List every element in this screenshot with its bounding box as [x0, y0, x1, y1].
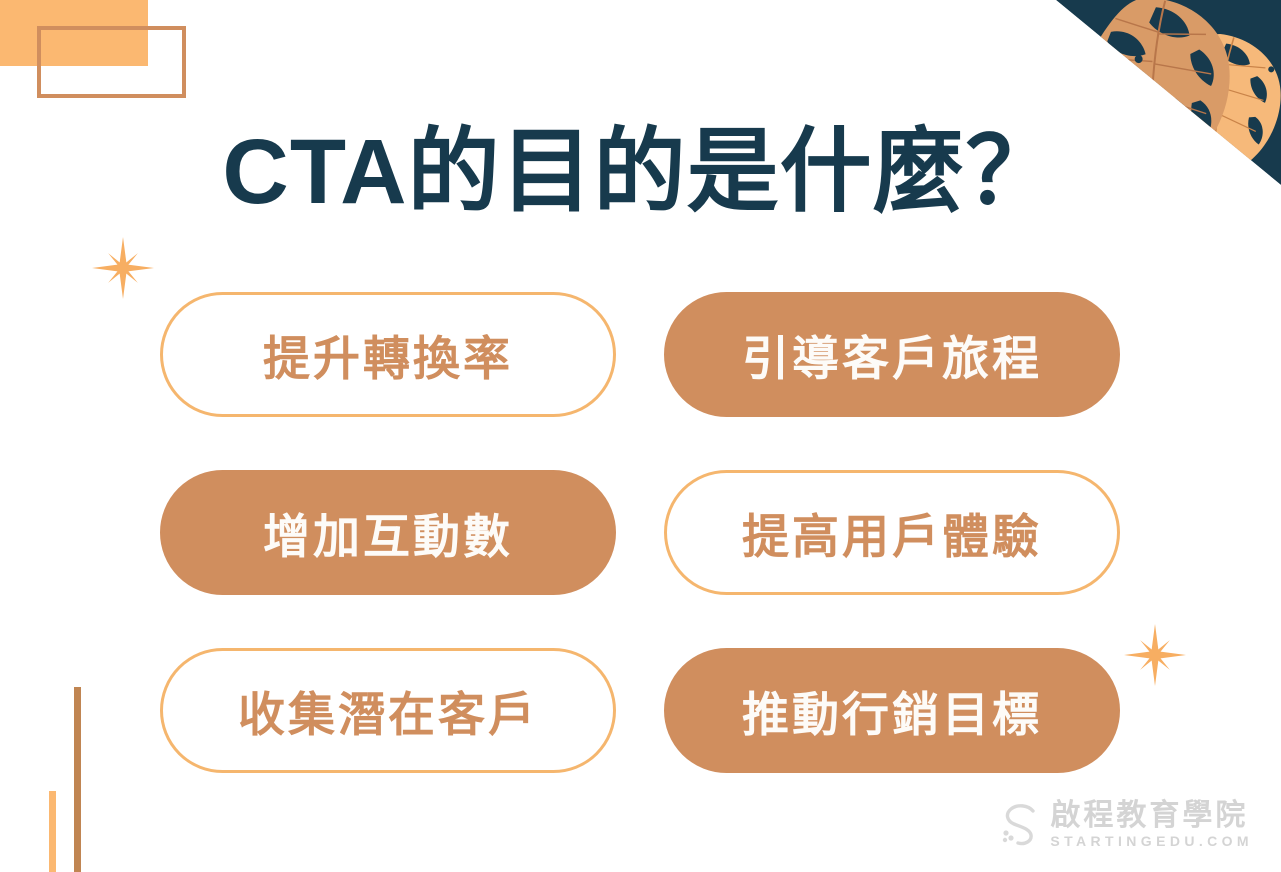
decorative-outlined-rectangle [37, 26, 186, 98]
page-title: CTA的目的是什麼？ [0, 124, 1281, 221]
decorative-vertical-bar-light [49, 791, 56, 872]
logo-name-english: STARTINGEDU.COM [1050, 833, 1253, 850]
cta-purpose-list: 提升轉換率 引導客戶旅程 增加互動數 提高用戶體驗 收集潛在客戶 推動行銷目標 [160, 292, 1120, 773]
cta-pill-increase-engagement[interactable]: 增加互動數 [160, 470, 616, 595]
cta-pill-guide-customer-journey[interactable]: 引導客戶旅程 [664, 292, 1120, 417]
logo-name-chinese: 啟程教育學院 [1050, 800, 1253, 832]
cta-pill-drive-marketing-goals[interactable]: 推動行銷目標 [664, 648, 1120, 773]
sparkle-star-icon [1124, 624, 1186, 686]
logo-text-block: 啟程教育學院 STARTINGEDU.COM [1050, 800, 1253, 850]
decorative-vertical-bar-dark [74, 687, 81, 872]
cta-pill-collect-leads[interactable]: 收集潛在客戶 [160, 648, 616, 773]
slide-canvas: CTA的目的是什麼？ 提升轉換率 引導客戶旅程 增加互動數 提高用戶體驗 收集潛… [0, 0, 1281, 872]
cta-pill-improve-user-experience[interactable]: 提高用戶體驗 [664, 470, 1120, 595]
brand-logo: 啟程教育學院 STARTINGEDU.COM [1000, 800, 1253, 850]
cta-pill-improve-conversion[interactable]: 提升轉換率 [160, 292, 616, 417]
logo-s-icon [1000, 802, 1040, 848]
sparkle-star-icon [92, 237, 154, 299]
